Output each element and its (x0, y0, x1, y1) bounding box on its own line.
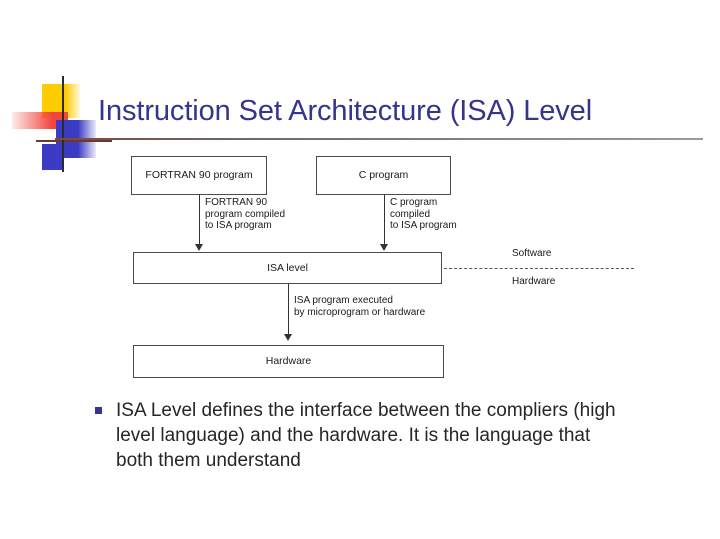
presentation-slide: Instruction Set Architecture (ISA) Level… (0, 0, 720, 539)
diagram-box-hardware: Hardware (133, 345, 444, 378)
connector-label-isa-to-hardware: ISA program executed by microprogram or … (294, 295, 425, 318)
arrowhead-icon-fortran-to-isa (195, 244, 203, 251)
divider-label-hardware: Hardware (512, 276, 555, 287)
arrowhead-icon-isa-to-hardware (284, 334, 292, 341)
software-hardware-divider-line (444, 268, 634, 269)
diagram-box-fortran-program: FORTRAN 90 program (131, 156, 267, 195)
divider-label-software: Software (512, 248, 551, 259)
bullet-square-icon (95, 407, 102, 414)
arrowhead-icon-c-to-isa (380, 244, 388, 251)
diagram-box-c-program: C program (316, 156, 451, 195)
bullet-text: ISA Level defines the interface between … (116, 398, 616, 473)
connector-line-isa-to-hardware (288, 284, 289, 336)
connector-label-fortran-to-isa: FORTRAN 90 program compiled to ISA progr… (205, 197, 285, 232)
connector-label-c-to-isa: C program compiled to ISA program (390, 197, 457, 232)
diagram-box-isa-level: ISA level (133, 252, 442, 284)
connector-line-c-to-isa (384, 195, 385, 246)
connector-line-fortran-to-isa (199, 195, 200, 246)
slide-body-bullet-list: ISA Level defines the interface between … (95, 398, 655, 473)
list-item: ISA Level defines the interface between … (95, 398, 655, 473)
